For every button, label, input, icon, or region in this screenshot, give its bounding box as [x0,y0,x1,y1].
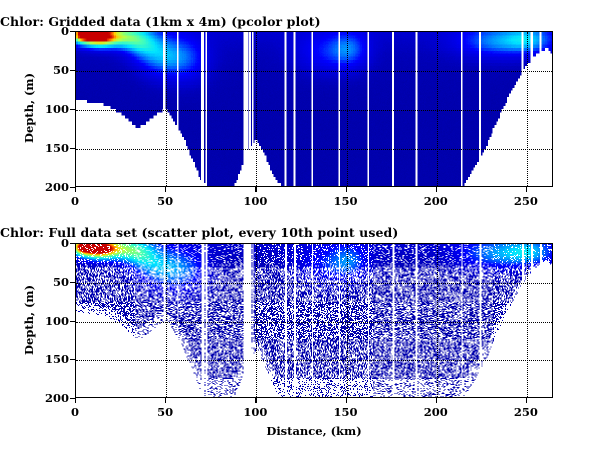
x-axis-tick-label: 250 [514,405,538,419]
x-axis-tick [436,398,437,403]
panel-gridded-y-axis-label: Depth, (m) [22,48,36,168]
x-axis-tick [165,398,166,403]
y-axis-tick-label: 0 [27,236,69,250]
y-axis-tick-label: 200 [27,180,69,194]
x-axis-tick-label: 100 [243,405,267,419]
y-axis-tick [70,243,75,244]
y-axis-tick [70,148,75,149]
panel-scatter-y-axis-label: Depth, (m) [22,260,36,380]
x-axis-tick-label: 200 [424,194,448,208]
panel-scatter-x-axis-label: Distance, (km) [75,424,553,438]
x-axis-tick [346,398,347,403]
x-axis-tick-label: 50 [157,194,173,208]
y-axis-tick [70,321,75,322]
x-axis-tick-label: 150 [334,194,358,208]
x-axis-tick [526,398,527,403]
panel-scatter-plot-area [76,244,552,397]
x-axis-tick [165,187,166,192]
x-axis-tick [75,398,76,403]
y-axis-tick-label: 200 [27,391,69,405]
y-axis-tick [70,70,75,71]
x-axis-tick-label: 200 [424,405,448,419]
gridline-horizontal [76,187,552,188]
y-axis-tick-label: 0 [27,24,69,38]
x-axis-tick [255,398,256,403]
x-axis-tick [75,187,76,192]
x-axis-tick-label: 250 [514,194,538,208]
x-axis-tick [255,187,256,192]
panel-gridded-axes [75,31,553,187]
y-axis-tick [70,109,75,110]
x-axis-tick-label: 100 [243,194,267,208]
x-axis-tick-label: 50 [157,405,173,419]
x-axis-tick [436,187,437,192]
y-axis-tick [70,359,75,360]
panel-gridded-plot-area [76,32,552,186]
gridline-horizontal [76,398,552,399]
figure-canvas: Chlor: Gridded data (1km x 4m) (pcolor p… [0,0,600,451]
y-axis-tick [70,31,75,32]
y-axis-tick [70,282,75,283]
panel-scatter-axes [75,243,553,398]
x-axis-tick [526,187,527,192]
x-axis-tick-label: 150 [334,405,358,419]
x-axis-tick-label: 0 [71,405,79,419]
x-axis-tick-label: 0 [71,194,79,208]
x-axis-tick [346,187,347,192]
